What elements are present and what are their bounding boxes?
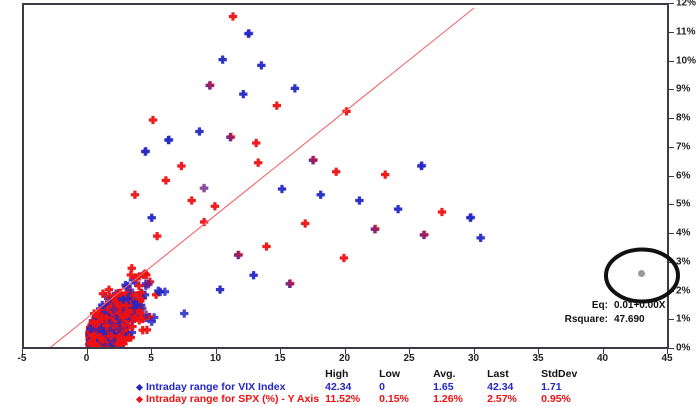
legend-header-marker xyxy=(132,368,146,381)
scatter-point xyxy=(477,234,485,242)
highlight-point-marker xyxy=(638,270,645,277)
scatter-point xyxy=(227,133,235,141)
scatter-point xyxy=(177,162,185,170)
x-tick-label: 45 xyxy=(661,353,672,364)
scatter-point xyxy=(180,309,188,317)
scatter-point xyxy=(310,156,318,164)
y-tick-label: 11% xyxy=(676,26,695,37)
scatter-point xyxy=(216,285,224,293)
x-tick-label: 0 xyxy=(84,353,90,364)
y-tick xyxy=(669,61,674,62)
scatter-point xyxy=(252,139,260,147)
legend-header-avg: Avg. xyxy=(433,368,487,381)
scatter-point xyxy=(317,191,325,199)
scatter-point xyxy=(249,271,257,279)
legend-row-spx[interactable]: Intraday range for SPX (%) - Y Axis 11.5… xyxy=(132,393,595,406)
x-tick-label: 20 xyxy=(339,353,350,364)
scatter-point xyxy=(286,279,294,287)
y-tick xyxy=(669,118,674,119)
chart-legend: High Low Avg. Last StdDev Intraday range… xyxy=(132,368,595,406)
legend-marker-vix xyxy=(132,381,146,394)
scatter-point xyxy=(165,135,173,143)
scatter-point xyxy=(438,208,446,216)
rsquare-row: Rsquare: 47.690 xyxy=(520,313,670,327)
legend-vix-stddev: 1.71 xyxy=(541,381,595,394)
legend-spx-avg: 1.26% xyxy=(433,393,487,406)
scatter-point xyxy=(381,170,389,178)
legend-label-vix: Intraday range for VIX Index xyxy=(146,381,325,394)
scatter-point xyxy=(254,159,262,167)
equation-label: Eq: xyxy=(592,299,608,313)
scatter-point xyxy=(291,84,299,92)
scatter-point xyxy=(467,213,475,221)
scatter-point xyxy=(229,12,237,20)
scatter-point xyxy=(149,116,157,124)
scatter-point xyxy=(273,101,281,109)
scatter-point xyxy=(195,127,203,135)
y-tick-label: 8% xyxy=(676,113,690,124)
scatter-point xyxy=(235,250,243,258)
y-tick xyxy=(669,348,674,349)
scatter-point xyxy=(153,232,161,240)
y-tick xyxy=(669,147,674,148)
y-tick-label: 10% xyxy=(676,55,696,66)
scatter-point xyxy=(131,191,139,199)
legend-header-series xyxy=(146,368,325,381)
legend-vix-avg: 1.65 xyxy=(433,381,487,394)
scatter-point xyxy=(188,196,196,204)
y-tick-label: 6% xyxy=(676,170,690,181)
scatter-point xyxy=(142,147,150,155)
x-tick-label: 5 xyxy=(148,353,154,364)
y-tick-label: 9% xyxy=(676,84,690,95)
scatter-point xyxy=(278,185,286,193)
legend-table: High Low Avg. Last StdDev Intraday range… xyxy=(132,368,595,406)
plot-area xyxy=(22,3,667,348)
scatter-plot-canvas xyxy=(24,5,667,348)
scatter-point xyxy=(418,161,426,169)
diamond-marker-icon xyxy=(135,396,142,403)
scatter-point xyxy=(394,205,402,213)
legend-row-vix[interactable]: Intraday range for VIX Index 42.34 0 1.6… xyxy=(132,381,595,394)
y-tick xyxy=(669,176,674,177)
scatter-point xyxy=(420,230,428,238)
x-tick-label: 25 xyxy=(403,353,414,364)
y-tick-label: 5% xyxy=(676,199,690,210)
legend-marker-spx xyxy=(132,393,146,406)
x-tick-label: 30 xyxy=(468,353,479,364)
scatter-point xyxy=(200,184,208,192)
y-tick-label: 0% xyxy=(676,343,690,354)
scatter-point xyxy=(245,29,253,37)
scatter-point xyxy=(219,55,227,63)
legend-vix-last: 42.34 xyxy=(487,381,541,394)
y-tick-label: 1% xyxy=(676,314,690,325)
scatter-point xyxy=(162,176,170,184)
x-tick-label: -5 xyxy=(18,353,27,364)
legend-vix-low: 0 xyxy=(379,381,433,394)
legend-spx-stddev: 0.95% xyxy=(541,393,595,406)
legend-header-low: Low xyxy=(379,368,433,381)
y-tick xyxy=(669,233,674,234)
scatter-point xyxy=(206,81,214,89)
legend-spx-low: 0.15% xyxy=(379,393,433,406)
diamond-marker-icon xyxy=(135,383,142,390)
scatter-point xyxy=(257,61,265,69)
x-tick-label: 15 xyxy=(274,353,285,364)
y-tick xyxy=(669,3,674,4)
x-tick-label: 40 xyxy=(597,353,608,364)
scatter-point xyxy=(301,219,309,227)
legend-spx-last: 2.57% xyxy=(487,393,541,406)
scatter-point xyxy=(340,254,348,262)
chart-root: -5051015202530354045 0%1%2%3%4%5%6%7%8%9… xyxy=(0,0,700,406)
legend-header-high: High xyxy=(325,368,379,381)
x-tick-label: 10 xyxy=(210,353,221,364)
rsquare-label: Rsquare: xyxy=(565,313,608,327)
scatter-point xyxy=(332,168,340,176)
scatter-point xyxy=(239,90,247,98)
y-tick xyxy=(669,204,674,205)
y-tick-label: 12% xyxy=(676,0,696,9)
regression-stats: Eq: 0.01+0.00X Rsquare: 47.690 xyxy=(520,299,670,327)
legend-header-stddev: StdDev xyxy=(541,368,595,381)
scatter-point xyxy=(355,196,363,204)
legend-vix-high: 42.34 xyxy=(325,381,379,394)
rsquare-value: 47.690 xyxy=(614,313,670,327)
x-tick-label: 35 xyxy=(532,353,543,364)
equation-value: 0.01+0.00X xyxy=(614,299,670,313)
y-tick xyxy=(669,89,674,90)
y-tick-label: 7% xyxy=(676,141,690,152)
y-tick-label: 4% xyxy=(676,228,690,239)
scatter-point xyxy=(262,242,270,250)
equation-row: Eq: 0.01+0.00X xyxy=(520,299,670,313)
scatter-point xyxy=(148,214,156,222)
legend-label-spx: Intraday range for SPX (%) - Y Axis xyxy=(146,393,325,406)
legend-header-last: Last xyxy=(487,368,541,381)
legend-spx-high: 11.52% xyxy=(325,393,379,406)
scatter-point xyxy=(211,202,219,210)
y-tick xyxy=(669,32,674,33)
scatter-point xyxy=(371,225,379,233)
legend-header-row: High Low Avg. Last StdDev xyxy=(132,368,595,381)
scatter-points-layer xyxy=(85,12,485,348)
